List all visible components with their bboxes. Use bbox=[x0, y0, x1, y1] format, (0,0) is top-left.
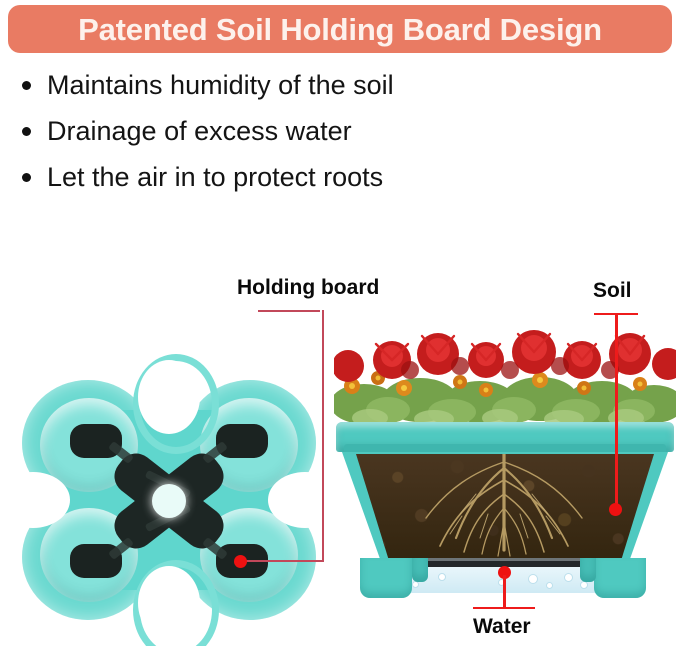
water-bubble bbox=[528, 574, 538, 584]
cross-section-planter-image bbox=[334, 330, 676, 598]
water-bubble bbox=[564, 573, 573, 582]
bullet-point-icon bbox=[22, 81, 31, 90]
holding-board-leader-run bbox=[246, 560, 324, 562]
water-bubble bbox=[412, 581, 419, 588]
bullet-point-icon bbox=[22, 127, 31, 136]
flower-bed bbox=[334, 330, 676, 426]
list-item: Maintains humidity of the soil bbox=[22, 72, 642, 118]
product-infographic: Patented Soil Holding Board Design Maint… bbox=[0, 0, 679, 646]
planter-foot-tab-right bbox=[580, 558, 596, 582]
planter-foot-right bbox=[594, 558, 646, 598]
bullet-point-icon bbox=[22, 173, 31, 182]
feature-text: Maintains humidity of the soil bbox=[47, 72, 394, 99]
list-item: Let the air in to protect roots bbox=[22, 164, 642, 210]
water-bubble bbox=[438, 573, 446, 581]
top-view-planter-image bbox=[16, 376, 322, 624]
water-leader-stem bbox=[503, 575, 506, 609]
water-bubble bbox=[580, 581, 588, 589]
header-banner: Patented Soil Holding Board Design bbox=[8, 5, 672, 53]
soil-callout-dot bbox=[609, 503, 622, 516]
water-leader-foot bbox=[473, 607, 535, 609]
planter-foot-tab-left bbox=[412, 558, 428, 582]
holding-board-center-hole bbox=[152, 484, 186, 518]
holding-board-tip bbox=[216, 424, 268, 458]
planter-foot-left bbox=[360, 558, 412, 598]
holding-board-leader-cap bbox=[258, 310, 320, 312]
callout-label-holding-board: Holding board bbox=[237, 277, 379, 298]
soil-leader-stem bbox=[615, 313, 618, 511]
feature-bullet-list: Maintains humidity of the soil Drainage … bbox=[22, 72, 642, 210]
flowers-svg bbox=[334, 330, 676, 426]
callout-label-water: Water bbox=[473, 616, 531, 637]
water-bubble bbox=[546, 582, 553, 589]
feature-text: Drainage of excess water bbox=[47, 118, 352, 145]
holding-board-leader-stem bbox=[322, 310, 324, 562]
planter-notch-right bbox=[268, 472, 342, 528]
list-item: Drainage of excess water bbox=[22, 118, 642, 164]
callout-label-soil: Soil bbox=[593, 280, 632, 301]
page-title: Patented Soil Holding Board Design bbox=[78, 14, 602, 45]
feature-text: Let the air in to protect roots bbox=[47, 164, 383, 191]
holding-board-callout-dot bbox=[234, 555, 247, 568]
